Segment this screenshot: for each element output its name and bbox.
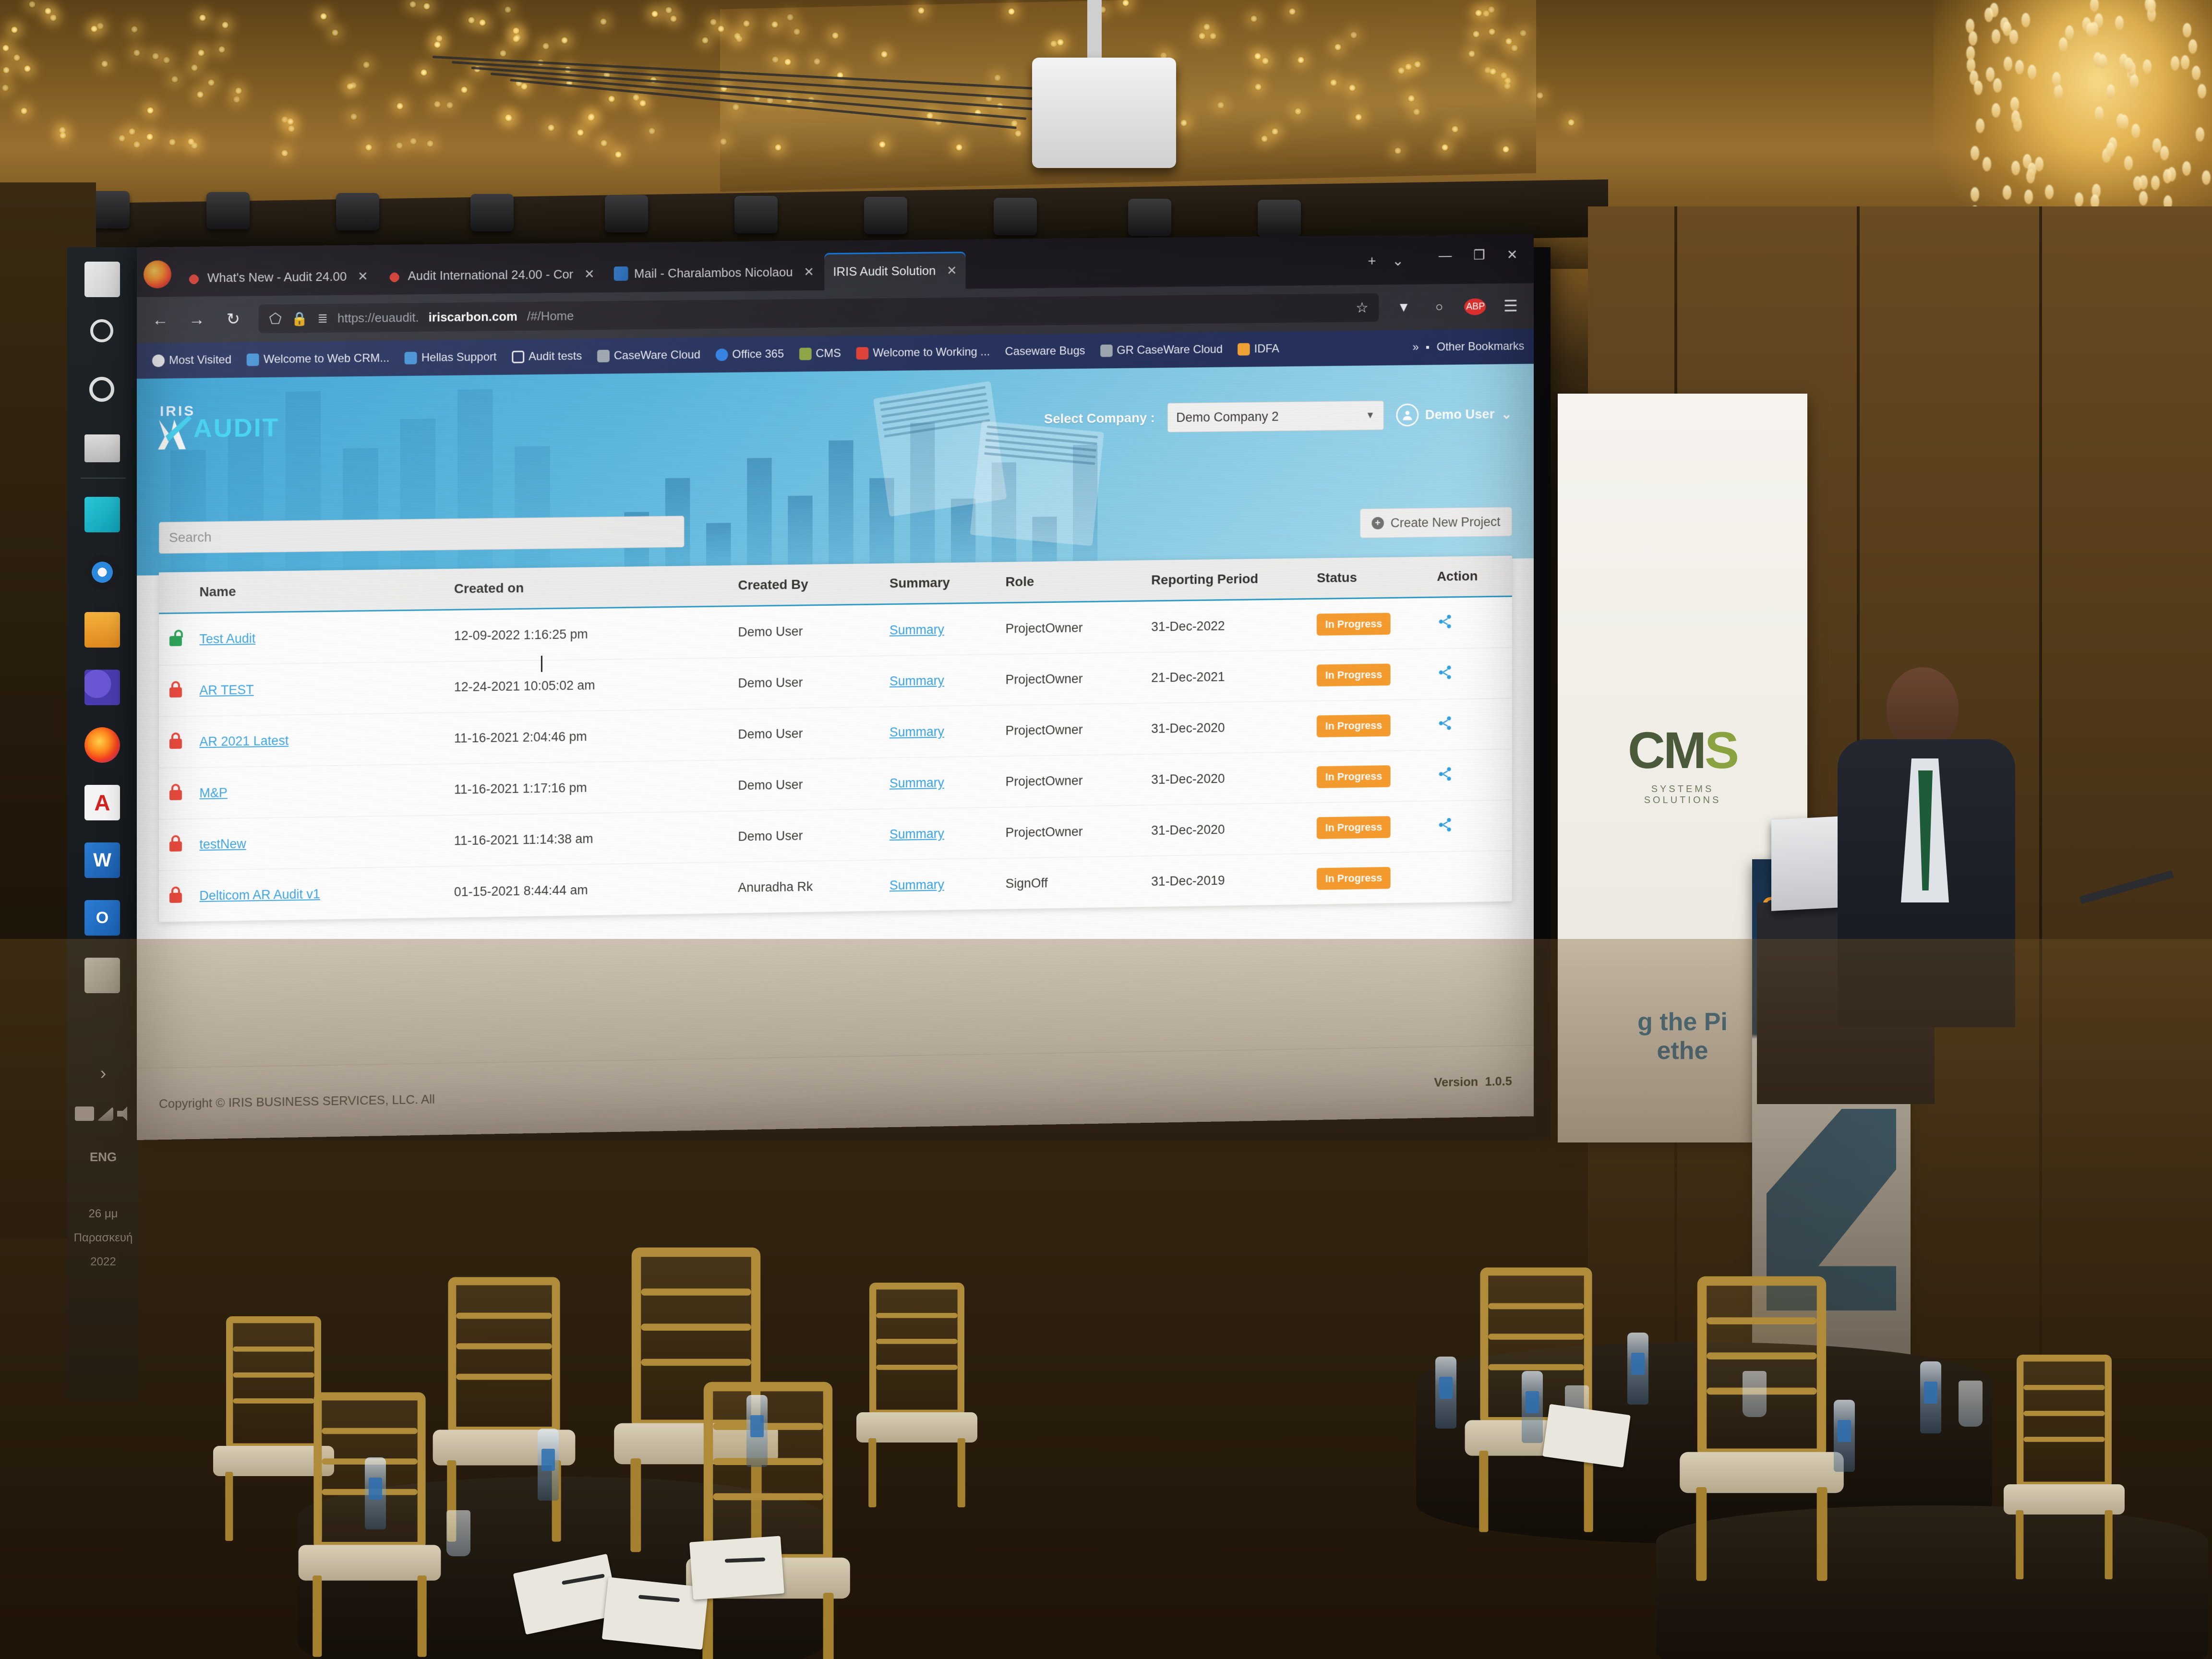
tab-title: IRIS Audit Solution (833, 263, 936, 279)
column-lock (159, 572, 194, 613)
maximize-button[interactable]: ❐ (1473, 247, 1485, 263)
user-menu[interactable]: Demo User ⌄ (1396, 402, 1512, 426)
bookmark-caseware-bugs[interactable]: Caseware Bugs (999, 342, 1091, 361)
folder-icon (1426, 346, 1429, 349)
app-header-controls: Select Company : Demo Company 2 ▼ Demo U… (1044, 399, 1512, 433)
chevron-down-icon: ⌄ (1501, 406, 1512, 422)
caseware-icon (597, 350, 610, 362)
notepad (689, 1536, 784, 1600)
ceiling-cables (432, 53, 1104, 197)
row-created-on-cell: 12-09-2022 1:16:25 pm (449, 606, 733, 661)
lock-closed-icon (169, 783, 182, 800)
tab-title: Audit International 24.00 - Cor (408, 267, 573, 283)
stage-light (864, 197, 907, 234)
stage-light (734, 196, 778, 233)
user-avatar-icon (1396, 404, 1419, 427)
other-bookmarks-label[interactable]: Other Bookmarks (1437, 340, 1525, 354)
share-nodes-icon[interactable] (1437, 664, 1453, 680)
gear-icon (152, 354, 165, 367)
row-created-by-cell: Anuradha Rk (733, 860, 885, 913)
drinking-glass (1959, 1381, 1983, 1427)
bookmark-label: Hellas Support (421, 350, 497, 365)
bookmark-welcome-to-working[interactable]: Welcome to Working ... (851, 343, 996, 362)
bookmark-label: CMS (816, 347, 841, 361)
menu-icon[interactable]: ☰ (1500, 297, 1522, 316)
browser-tab-3-active[interactable]: IRIS Audit Solution ✕ (825, 252, 966, 290)
row-summary-cell: Summary (885, 654, 1000, 707)
row-lock-cell (159, 768, 194, 819)
create-new-project-button[interactable]: + Create New Project (1360, 507, 1512, 538)
bookmark-cms[interactable]: CMS (793, 345, 847, 362)
summary-link[interactable]: Summary (890, 775, 944, 790)
row-role-cell: ProjectOwner (1001, 601, 1147, 654)
water-bottle (365, 1457, 386, 1529)
project-name-link[interactable]: Delticom AR Audit v1 (199, 887, 320, 903)
status-badge: In Progress (1317, 613, 1391, 636)
row-lock-cell (159, 613, 194, 665)
row-created-on-cell: 11-16-2021 1:17:16 pm (449, 760, 733, 815)
start-button-icon[interactable] (84, 262, 120, 297)
lock-open-icon (169, 629, 182, 646)
browser-tab-2[interactable]: Mail - Charalambos Nicolaou ✕ (605, 253, 823, 292)
tab-close-icon[interactable]: ✕ (584, 266, 595, 281)
bookmark-hellas-support[interactable]: Hellas Support (399, 349, 502, 367)
row-summary-cell: Summary (885, 705, 1000, 758)
row-summary-cell: Summary (885, 858, 1000, 911)
projector-mount (1087, 0, 1102, 62)
iris-favicon (187, 271, 201, 285)
row-status-cell: In Progress (1312, 699, 1432, 752)
row-reporting-period-cell: 31-Dec-2020 (1146, 701, 1312, 754)
app-logo[interactable]: IRIS AUDIT (160, 402, 280, 442)
lock-closed-icon (169, 886, 182, 902)
projects-table: Name Created on Created By Summary Role … (159, 556, 1512, 923)
project-name-link[interactable]: Test Audit (199, 631, 255, 646)
text-cursor (541, 656, 542, 672)
notepad (1542, 1404, 1631, 1468)
company-select-dropdown[interactable]: Demo Company 2 ▼ (1167, 400, 1383, 432)
stage-light (605, 195, 648, 232)
window-controls: — ❐ ✕ (1420, 247, 1529, 274)
bookmark-caseware-cloud[interactable]: CaseWare Cloud (591, 347, 706, 365)
status-badge: In Progress (1317, 714, 1391, 737)
stage-light (336, 193, 379, 230)
row-lock-cell (159, 870, 194, 922)
bookmark-audit-tests[interactable]: Audit tests (506, 348, 588, 366)
close-window-button[interactable]: ✕ (1507, 247, 1518, 263)
row-created-on-cell: 12-24-2021 10:05:02 am (449, 658, 733, 712)
select-company-label: Select Company : (1044, 410, 1155, 427)
row-name-cell: testNew (194, 815, 449, 870)
water-bottle (1522, 1371, 1543, 1443)
tab-title: What's New - Audit 24.00 (207, 269, 347, 285)
project-name-link[interactable]: testNew (199, 836, 246, 851)
reload-button[interactable]: ↻ (222, 310, 244, 329)
bookmark-label: Caseware Bugs (1005, 344, 1085, 359)
chair (852, 1283, 982, 1507)
row-name-cell: AR 2021 Latest (194, 713, 449, 768)
bookmark-idfa[interactable]: IDFA (1232, 340, 1285, 358)
summary-link[interactable]: Summary (890, 724, 944, 739)
cms-subtitle: SYSTEMS SOLUTIONS (1620, 784, 1745, 806)
presenter-head (1887, 667, 1959, 749)
bookmark-star-icon[interactable]: ☆ (1356, 299, 1368, 316)
folder-icon (512, 351, 524, 363)
row-name-cell: Test Audit (194, 610, 449, 665)
browser-tab-1[interactable]: Audit International 24.00 - Cor ✕ (379, 255, 603, 295)
adblock-icon[interactable]: ABP (1464, 298, 1486, 315)
back-button[interactable]: ← (149, 311, 171, 329)
url-host: iriscarbon.com (429, 309, 517, 325)
chair (680, 1382, 856, 1659)
summary-link[interactable]: Summary (890, 673, 944, 688)
word-icon[interactable]: W (84, 842, 120, 878)
drinking-glass (446, 1510, 470, 1556)
bookmark-label: Audit tests (529, 349, 582, 363)
summary-link[interactable]: Summary (890, 826, 944, 841)
row-action-cell (1432, 851, 1512, 902)
row-reporting-period-cell: 31-Dec-2022 (1146, 599, 1312, 652)
audience-foreground (0, 939, 2212, 1659)
water-bottle (1435, 1357, 1456, 1429)
row-created-by-cell: Demo User (733, 809, 885, 862)
url-prefix: https://euaudit. (337, 310, 419, 326)
row-created-by-cell: Demo User (733, 656, 885, 709)
column-reporting-period[interactable]: Reporting Period (1146, 558, 1312, 601)
chair (1674, 1276, 1850, 1581)
forward-button[interactable]: → (186, 310, 208, 329)
crm-icon (247, 353, 259, 366)
shield-icon[interactable]: ⬠ (269, 310, 282, 327)
row-lock-cell (159, 665, 194, 717)
minimize-button[interactable]: — (1439, 248, 1452, 263)
project-name-link[interactable]: AR 2021 Latest (199, 733, 289, 749)
teams-icon[interactable] (84, 670, 120, 705)
water-bottle (1627, 1333, 1648, 1405)
row-status-cell: In Progress (1312, 750, 1432, 803)
row-action-cell (1432, 648, 1512, 699)
lock-closed-icon (169, 681, 182, 697)
row-role-cell: ProjectOwner (1001, 652, 1147, 705)
row-reporting-period-cell: 31-Dec-2019 (1146, 854, 1312, 907)
row-created-by-cell: Demo User (733, 707, 885, 760)
bookmarks-overflow-icon[interactable]: » (1413, 341, 1419, 354)
row-summary-cell: Summary (885, 807, 1000, 860)
user-name: Demo User (1425, 407, 1495, 422)
table-body: Test Audit12-09-2022 1:16:25 pmDemo User… (159, 596, 1512, 922)
new-tab-button[interactable]: + (1368, 253, 1376, 269)
row-reporting-period-cell: 31-Dec-2020 (1146, 752, 1312, 805)
bookmark-web-crm[interactable]: Welcome to Web CRM... (241, 349, 395, 368)
row-reporting-period-cell: 31-Dec-2020 (1146, 803, 1312, 856)
share-nodes-icon[interactable] (1437, 715, 1453, 731)
cms-icon (799, 348, 812, 360)
status-badge: In Progress (1317, 816, 1391, 839)
logo-text-audit: AUDIT (193, 416, 280, 441)
column-summary[interactable]: Summary (885, 562, 1000, 604)
row-role-cell: ProjectOwner (1001, 805, 1147, 858)
column-status[interactable]: Status (1312, 557, 1432, 599)
bookmark-label: IDFA (1254, 342, 1279, 356)
row-status-cell: In Progress (1312, 852, 1432, 904)
stage-light (1128, 199, 1171, 236)
column-created-by[interactable]: Created By (733, 564, 885, 606)
cms-logo: CMS SYSTEMS SOLUTIONS (1620, 720, 1745, 806)
row-action-cell (1432, 698, 1512, 750)
row-lock-cell (159, 819, 194, 871)
pocket-icon[interactable]: ▼ (1393, 300, 1415, 315)
column-action: Action (1432, 556, 1512, 598)
stage-light (470, 194, 514, 231)
outlook-favicon (613, 266, 628, 281)
row-role-cell: ProjectOwner (1001, 754, 1147, 807)
bookmark-label: Welcome to Web CRM... (264, 351, 389, 366)
lock-closed-icon (169, 835, 182, 851)
chevron-down-icon: ▼ (1366, 410, 1375, 421)
column-name[interactable]: Name (194, 569, 449, 613)
row-role-cell: SignOff (1001, 856, 1147, 909)
row-reporting-period-cell: 21-Dec-2021 (1146, 650, 1312, 703)
row-role-cell: ProjectOwner (1001, 703, 1147, 756)
share-nodes-icon[interactable] (1437, 613, 1453, 629)
lock-closed-icon (169, 732, 182, 748)
row-name-cell: AR TEST (194, 661, 449, 716)
outlook-icon[interactable]: O (84, 900, 120, 936)
address-bar[interactable]: ⬠ 🔒 ≣ https://euaudit.iriscarbon.com/#/H… (259, 293, 1379, 333)
bookmark-office-365[interactable]: Office 365 (710, 346, 790, 364)
row-created-by-cell: Demo User (733, 604, 885, 658)
bookmarks-overflow-area: » Other Bookmarks (1413, 340, 1525, 354)
acrobat-icon[interactable]: A (84, 785, 120, 820)
row-created-on-cell: 01-15-2021 8:44:44 am (449, 862, 733, 917)
project-name-link[interactable]: AR TEST (199, 682, 253, 697)
bookmark-gr-caseware-cloud[interactable]: GR CaseWare Cloud (1094, 341, 1228, 360)
browser-tab-0[interactable]: What's New - Audit 24.00 ✕ (178, 257, 377, 297)
scene-root: A W O › ENG 26 μμ Παρασκευή 2022 What's … (0, 0, 2212, 1659)
search-input[interactable]: Search (159, 516, 685, 553)
row-status-cell: In Progress (1312, 801, 1432, 854)
summary-link[interactable]: Summary (890, 877, 944, 892)
row-status-cell: In Progress (1312, 597, 1432, 650)
water-bottle (746, 1395, 768, 1467)
bookmark-label: Welcome to Working ... (873, 345, 990, 360)
row-action-cell (1432, 596, 1512, 649)
folder-icon[interactable] (84, 612, 120, 648)
list-all-tabs-icon[interactable]: ⌄ (1392, 252, 1404, 269)
bookmark-label: Most Visited (169, 353, 231, 367)
row-action-cell (1432, 800, 1512, 852)
caseware-icon (1100, 345, 1113, 357)
drinking-glass (1743, 1371, 1767, 1417)
row-name-cell: Delticom AR Audit v1 (194, 866, 449, 922)
water-bottle (538, 1429, 559, 1501)
tab-close-icon[interactable]: ✕ (358, 269, 368, 284)
tab-close-icon[interactable]: ✕ (947, 263, 957, 278)
status-badge: In Progress (1317, 765, 1391, 788)
tab-close-icon[interactable]: ✕ (804, 264, 814, 279)
bookmark-most-visited[interactable]: Most Visited (146, 351, 237, 370)
container-icon[interactable]: ○ (1429, 299, 1450, 314)
status-badge: In Progress (1317, 867, 1391, 890)
search-placeholder: Search (169, 529, 212, 545)
firefox-logo-icon (144, 260, 171, 289)
idfa-icon (1238, 343, 1250, 356)
row-action-cell (1432, 749, 1512, 801)
column-role[interactable]: Role (1001, 560, 1147, 603)
tab-strip-tools: + ⌄ — ❐ ✕ (1368, 247, 1529, 285)
cms-wordmark: CMS (1620, 720, 1745, 780)
create-new-project-label: Create New Project (1391, 514, 1501, 530)
firefox-icon[interactable] (84, 727, 120, 763)
iris-favicon (387, 269, 402, 283)
office-icon (716, 349, 728, 361)
row-created-by-cell: Demo User (733, 758, 885, 811)
file-explorer-icon[interactable] (84, 497, 120, 532)
logo-x-icon (157, 416, 192, 454)
row-name-cell: M&P (194, 764, 449, 818)
summary-link[interactable]: Summary (890, 622, 944, 637)
share-nodes-icon[interactable] (1437, 766, 1453, 782)
cortana-circle-icon[interactable] (89, 377, 114, 402)
chair (428, 1277, 580, 1541)
tab-title: Mail - Charalambos Nicolaou (634, 264, 793, 281)
row-lock-cell (159, 716, 194, 768)
task-view-icon[interactable] (84, 434, 120, 462)
water-bottle (1834, 1400, 1855, 1472)
plus-circle-icon: + (1371, 517, 1383, 529)
bookmark-label: CaseWare Cloud (614, 349, 700, 363)
stage-light (1258, 200, 1301, 237)
row-summary-cell: Summary (885, 756, 1000, 809)
reader-mode-icon[interactable]: ≣ (317, 311, 328, 325)
search-icon[interactable] (90, 319, 113, 342)
projects-table-card: Name Created on Created By Summary Role … (159, 556, 1512, 923)
column-created-on[interactable]: Created on (449, 565, 733, 610)
bookmark-label: Office 365 (732, 348, 784, 361)
stage-light (994, 198, 1037, 235)
project-name-link[interactable]: M&P (199, 785, 227, 800)
url-path: /#/Home (527, 308, 574, 324)
status-badge: In Progress (1317, 663, 1391, 686)
stage-light (206, 192, 250, 229)
ceiling-projector (1032, 58, 1176, 168)
row-summary-cell: Summary (885, 603, 1000, 656)
support-icon (405, 352, 417, 364)
row-created-on-cell: 11-16-2021 2:04:46 pm (449, 709, 733, 764)
share-nodes-icon[interactable] (1437, 817, 1453, 833)
lock-icon[interactable]: 🔒 (291, 311, 308, 326)
row-status-cell: In Progress (1312, 649, 1432, 701)
iris-icon (856, 347, 869, 360)
water-bottle (1920, 1361, 1941, 1433)
bookmark-label: GR CaseWare Cloud (1117, 343, 1223, 357)
selected-company-value: Demo Company 2 (1176, 409, 1279, 425)
row-created-on-cell: 11-16-2021 11:14:38 am (449, 811, 733, 866)
chrome-icon[interactable] (84, 554, 120, 590)
chair (1999, 1355, 2129, 1579)
